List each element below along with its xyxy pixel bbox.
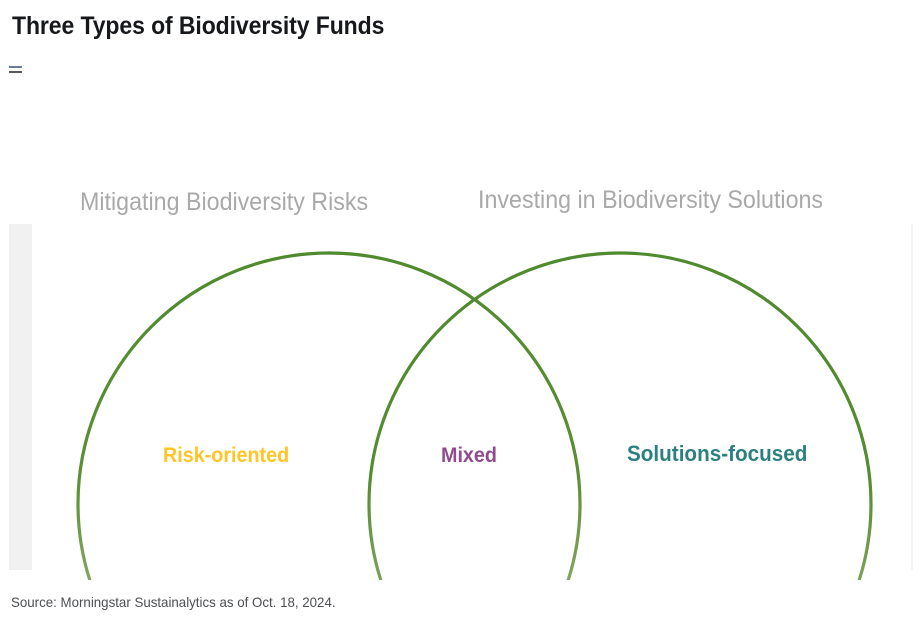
two-bars-icon-bar-top <box>9 66 22 68</box>
venn-circle-right <box>369 253 871 580</box>
two-bars-icon-bar-bottom <box>9 71 22 73</box>
page-title: Three Types of Biodiversity Funds <box>12 12 384 41</box>
venn-arcs <box>0 100 924 580</box>
segment-label-solutions-focused: Solutions-focused <box>627 441 807 467</box>
source-note: Source: Morningstar Sustainalytics as of… <box>11 594 336 610</box>
venn-circle-left <box>78 253 580 580</box>
segment-label-mixed: Mixed <box>441 444 497 468</box>
venn-diagram-figure: Mitigating Biodiversity Risks Investing … <box>0 100 924 580</box>
segment-label-risk-oriented: Risk-oriented <box>163 444 289 468</box>
two-bars-icon <box>9 66 22 75</box>
